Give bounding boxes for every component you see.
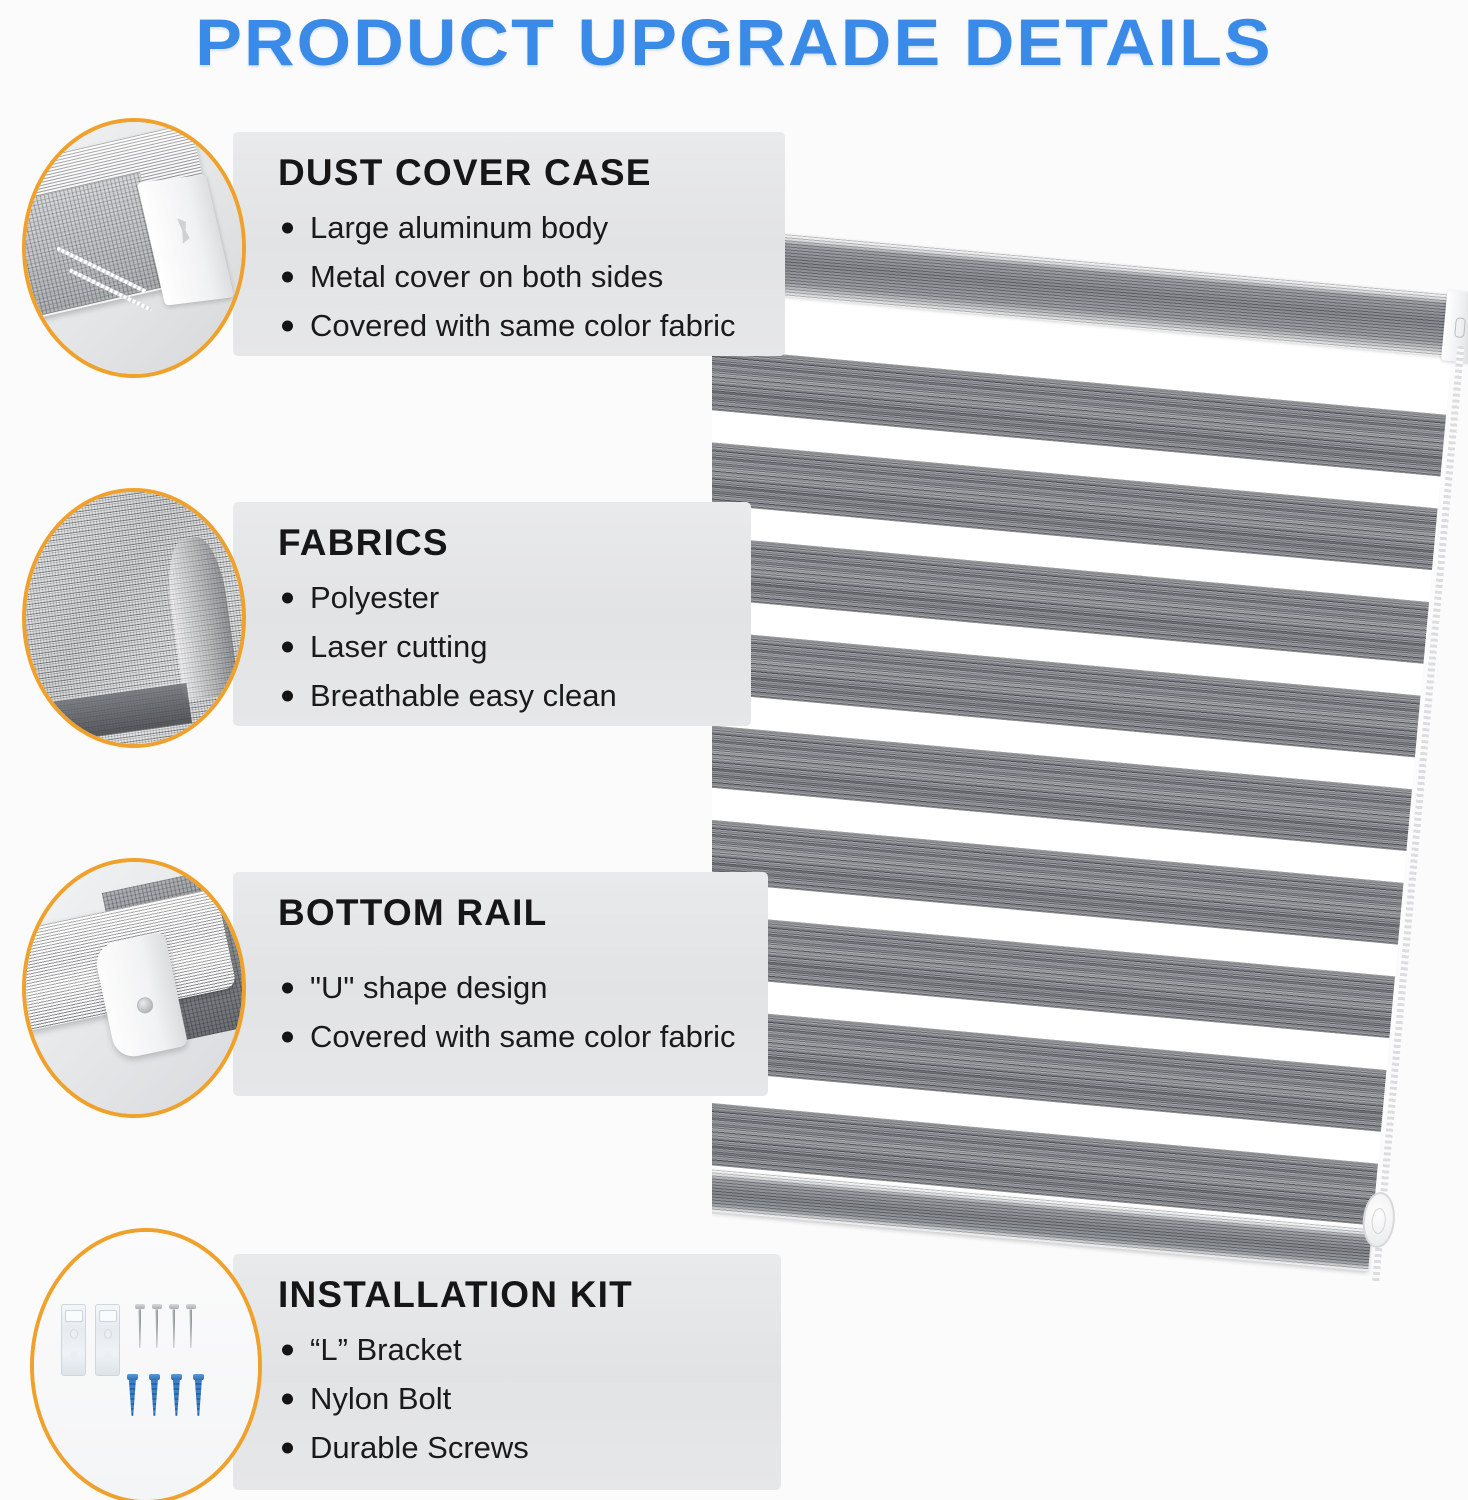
feature-text-panel: FABRICS Polyester Laser cutting Breathab… <box>233 502 751 726</box>
feature-heading: INSTALLATION KIT <box>278 1274 633 1316</box>
product-image-zebra-blind <box>712 222 1468 1282</box>
infographic-canvas: PRODUCT UPGRADE DETAILS DUST <box>0 0 1468 1500</box>
list-item: Covered with same color fabric <box>280 308 736 344</box>
feature-text-panel: INSTALLATION KIT “L” Bracket Nylon Bolt … <box>233 1254 781 1490</box>
blind-fabric-panel <box>712 228 1457 1271</box>
screw-icon <box>154 1304 160 1348</box>
l-bracket-icon <box>95 1304 120 1376</box>
nylon-anchor-group <box>127 1374 204 1416</box>
list-item: Breathable easy clean <box>280 678 617 714</box>
list-item: Durable Screws <box>280 1430 529 1466</box>
feature-heading: DUST COVER CASE <box>278 152 652 194</box>
zebra-fabric-photo <box>26 492 242 744</box>
feature-text-panel: BOTTOM RAIL "U" shape design Covered wit… <box>233 872 768 1096</box>
blind-assembly <box>712 228 1463 1282</box>
l-bracket-icon <box>61 1304 86 1376</box>
list-item: Covered with same color fabric <box>280 1019 736 1055</box>
nylon-bolt-icon <box>171 1374 182 1416</box>
bottom-rail-photo <box>22 858 246 1118</box>
fabrics-photo <box>22 488 246 748</box>
installation-hardware-photo <box>34 1232 258 1500</box>
dust-cover-case-photo <box>22 118 246 378</box>
list-item: Nylon Bolt <box>280 1381 451 1417</box>
screw-group <box>137 1304 194 1348</box>
dust-cover-cassette <box>712 228 1457 357</box>
list-item: Laser cutting <box>280 629 488 665</box>
list-item: “L” Bracket <box>280 1332 462 1368</box>
list-item: Large aluminum body <box>280 210 608 246</box>
page-title: PRODUCT UPGRADE DETAILS <box>0 4 1468 80</box>
list-item: Polyester <box>280 580 439 616</box>
nylon-bolt-icon <box>193 1374 204 1416</box>
installation-kit-photo <box>30 1228 262 1500</box>
feature-heading: BOTTOM RAIL <box>278 892 547 934</box>
feature-heading: FABRICS <box>278 522 449 564</box>
bottom-rail-endcap-photo <box>26 862 242 1114</box>
screw-icon <box>137 1304 143 1348</box>
kit-items <box>61 1304 194 1376</box>
feature-text-panel: DUST COVER CASE Large aluminum body Meta… <box>233 132 785 356</box>
aluminum-headrail-photo <box>26 122 242 374</box>
screw-icon <box>188 1304 194 1348</box>
nylon-bolt-icon <box>127 1374 138 1416</box>
list-item: "U" shape design <box>280 970 547 1006</box>
nylon-bolt-icon <box>149 1374 160 1416</box>
list-item: Metal cover on both sides <box>280 259 663 295</box>
screw-icon <box>171 1304 177 1348</box>
